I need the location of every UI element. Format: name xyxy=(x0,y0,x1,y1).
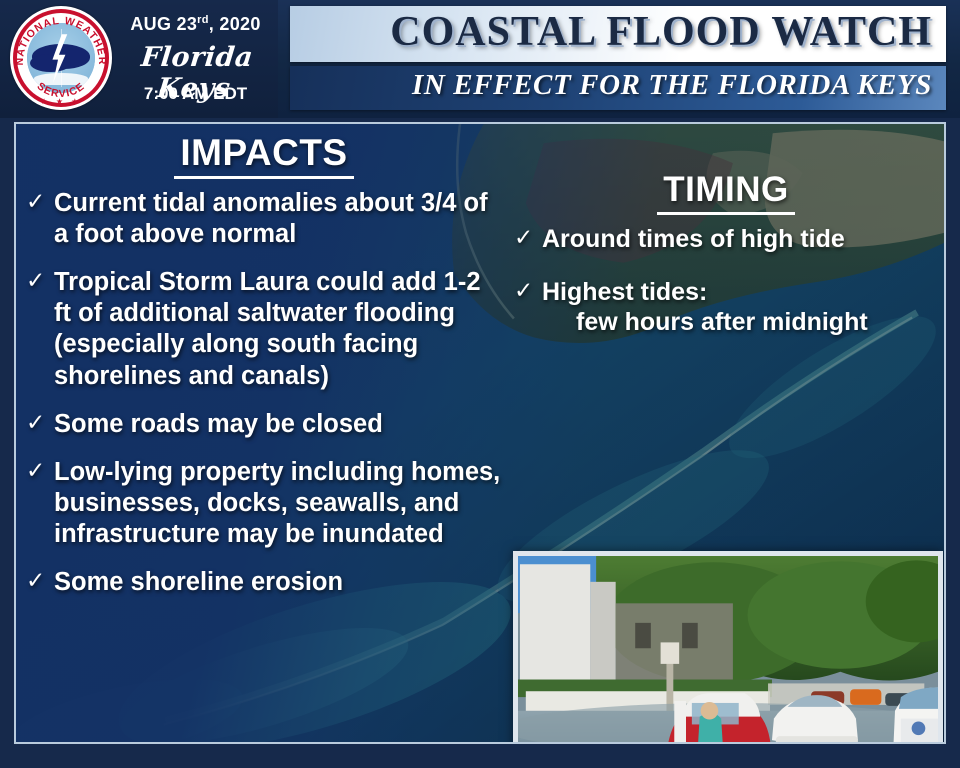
coastal-flood-watch-graphic: NATIONAL WEATHER SERVICE ★ ★ ★ AUG 23rd,… xyxy=(0,0,960,768)
title-banner: COASTAL FLOOD WATCH xyxy=(290,6,946,62)
header-date: AUG 23rd, 2020 xyxy=(118,14,273,35)
check-icon: ✓ xyxy=(26,266,45,295)
list-item-text: Some shoreline erosion xyxy=(54,568,343,596)
flood-photo: Reynolds @ Atlantic, Key West Photo: Nan… xyxy=(513,551,943,744)
list-item: ✓ Some shoreline erosion xyxy=(24,567,504,598)
list-item-text: Current tidal anomalies about 3/4 of a f… xyxy=(54,189,488,248)
list-item: ✓ Tropical Storm Laura could add 1-2 ft … xyxy=(24,267,504,391)
check-icon: ✓ xyxy=(26,456,45,485)
check-icon: ✓ xyxy=(514,276,533,305)
content-panel: IMPACTS ✓ Current tidal anomalies about … xyxy=(14,122,946,744)
list-item: ✓ Highest tides: few hours after midnigh… xyxy=(512,277,940,338)
list-item-text: Around times of high tide xyxy=(542,225,845,253)
list-item-subtext: few hours after midnight xyxy=(542,307,940,338)
list-item: ✓ Around times of high tide xyxy=(512,224,940,255)
list-item: ✓ Low-lying property including homes, bu… xyxy=(24,457,504,550)
page-subtitle: IN EFFECT FOR THE FLORIDA KEYS xyxy=(412,69,932,102)
check-icon: ✓ xyxy=(26,408,45,437)
list-item-text: Highest tides: xyxy=(542,278,707,306)
timing-column: TIMING ✓ Around times of high tide ✓ Hig… xyxy=(512,170,940,360)
page-title: COASTAL FLOOD WATCH xyxy=(390,8,932,56)
list-item: ✓ Current tidal anomalies about 3/4 of a… xyxy=(24,188,504,250)
check-icon: ✓ xyxy=(26,566,45,595)
impacts-heading: IMPACTS xyxy=(24,132,504,174)
impacts-list: ✓ Current tidal anomalies about 3/4 of a… xyxy=(24,188,504,598)
header-time: 7:00 AM EDT xyxy=(118,84,273,104)
timing-heading: TIMING xyxy=(512,170,940,210)
header: NATIONAL WEATHER SERVICE ★ ★ ★ AUG 23rd,… xyxy=(0,0,960,118)
check-icon: ✓ xyxy=(514,223,533,252)
nws-logo-icon: NATIONAL WEATHER SERVICE ★ ★ ★ xyxy=(10,6,112,110)
list-item: ✓ Some roads may be closed xyxy=(24,409,504,440)
list-item-text: Low-lying property including homes, busi… xyxy=(54,458,500,548)
impacts-column: IMPACTS ✓ Current tidal anomalies about … xyxy=(24,132,504,615)
svg-text:NATIONAL WEATHER: NATIONAL WEATHER xyxy=(14,15,108,66)
check-icon: ✓ xyxy=(26,187,45,216)
list-item-text: Some roads may be closed xyxy=(54,410,383,438)
flood-photo-image xyxy=(518,556,938,744)
list-item-text: Tropical Storm Laura could add 1-2 ft of… xyxy=(54,268,481,389)
timing-list: ✓ Around times of high tide ✓ Highest ti… xyxy=(512,224,940,338)
subtitle-banner: IN EFFECT FOR THE FLORIDA KEYS xyxy=(290,66,946,110)
